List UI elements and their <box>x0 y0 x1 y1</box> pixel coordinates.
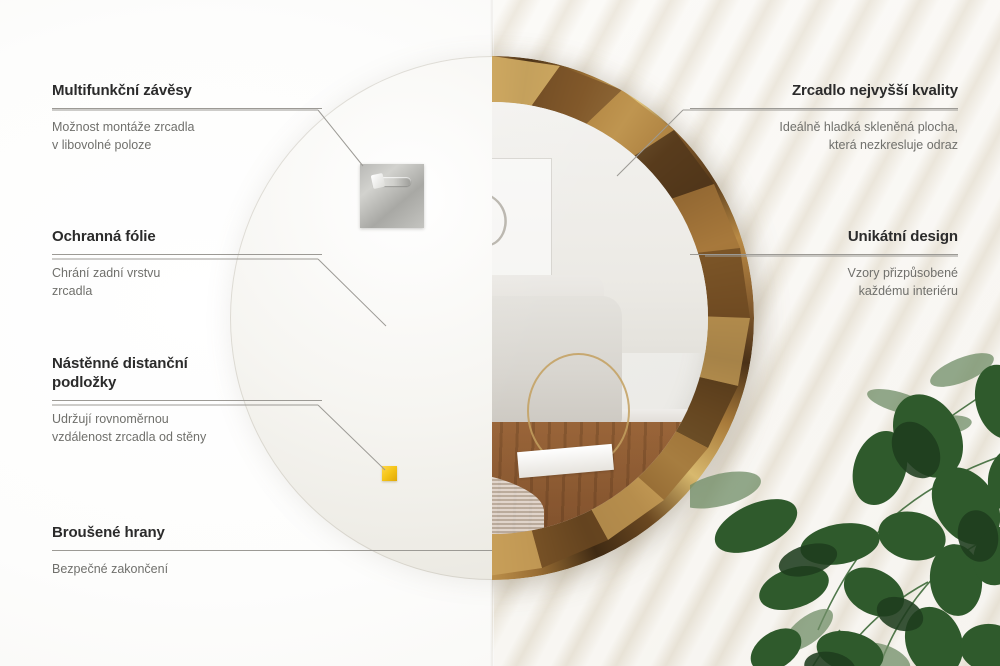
callout-unikatni-design: Unikátní design Vzory přizpůsobené každé… <box>690 228 958 300</box>
hanger-keyhole-slot <box>373 177 411 186</box>
callout-title: Ochranná fólie <box>52 228 322 247</box>
hanger-plate <box>360 164 424 228</box>
callout-body: Chrání zadní vrstvu zrcadla <box>52 264 322 300</box>
callout-body-line: každému interiéru <box>690 282 958 300</box>
callout-body: Bezpečné zakončení <box>52 560 492 578</box>
callout-title: Unikátní design <box>690 228 958 247</box>
callout-title: Broušené hrany <box>52 524 492 543</box>
callout-title-line: podložky <box>52 374 322 393</box>
callout-rule <box>52 254 322 255</box>
callout-brousene-hrany: Broušené hrany Bezpečné zakončení <box>52 524 492 578</box>
callout-rule <box>690 108 958 109</box>
callout-ochranna-folie: Ochranná fólie Chrání zadní vrstvu zrcad… <box>52 228 322 300</box>
callout-body: Udržují rovnoměrnou vzdálenost zrcadla o… <box>52 410 322 446</box>
callout-rule <box>52 400 322 401</box>
callout-nastenne-distancni-podlozky: Nástěnné distanční podložky Udržují rovn… <box>52 355 322 446</box>
callout-title: Multifunkční závěsy <box>52 82 322 101</box>
callout-body-line: Možnost montáže zrcadla <box>52 118 322 136</box>
glass-sheen <box>492 102 708 534</box>
callout-body-line: vzdálenost zrcadla od stěny <box>52 428 322 446</box>
callout-body-line: Udržují rovnoměrnou <box>52 410 322 428</box>
callout-body-line: v libovolné poloze <box>52 136 322 154</box>
callout-body-line: která nezkresluje odraz <box>690 136 958 154</box>
callout-rule <box>690 254 958 255</box>
callout-rule <box>52 550 492 551</box>
mirror-glass-reflection <box>492 102 708 534</box>
callout-body: Možnost montáže zrcadla v libovolné polo… <box>52 118 322 154</box>
callout-body: Vzory přizpůsobené každému interiéru <box>690 264 958 300</box>
callout-body-line: Bezpečné zakončení <box>52 560 492 578</box>
callout-body-line: zrcadla <box>52 282 322 300</box>
callout-title: Nástěnné distanční podložky <box>52 355 322 393</box>
callout-body-line: Ideálně hladká skleněná plocha, <box>690 118 958 136</box>
callout-zrcadlo-nejvyssi-kvality: Zrcadlo nejvyšší kvality Ideálně hladká … <box>690 82 958 154</box>
callout-multifunkcni-zavesy: Multifunkční závěsy Možnost montáže zrca… <box>52 82 322 154</box>
callout-body-line: Vzory přizpůsobené <box>690 264 958 282</box>
spacer-pad <box>382 466 397 481</box>
callout-title-line: Nástěnné distanční <box>52 355 322 374</box>
callout-body: Ideálně hladká skleněná plocha, která ne… <box>690 118 958 154</box>
callout-body-line: Chrání zadní vrstvu <box>52 264 322 282</box>
callout-rule <box>52 108 322 109</box>
callout-title: Zrcadlo nejvyšší kvality <box>690 82 958 101</box>
infographic-stage: Multifunkční závěsy Možnost montáže zrca… <box>0 0 1000 666</box>
